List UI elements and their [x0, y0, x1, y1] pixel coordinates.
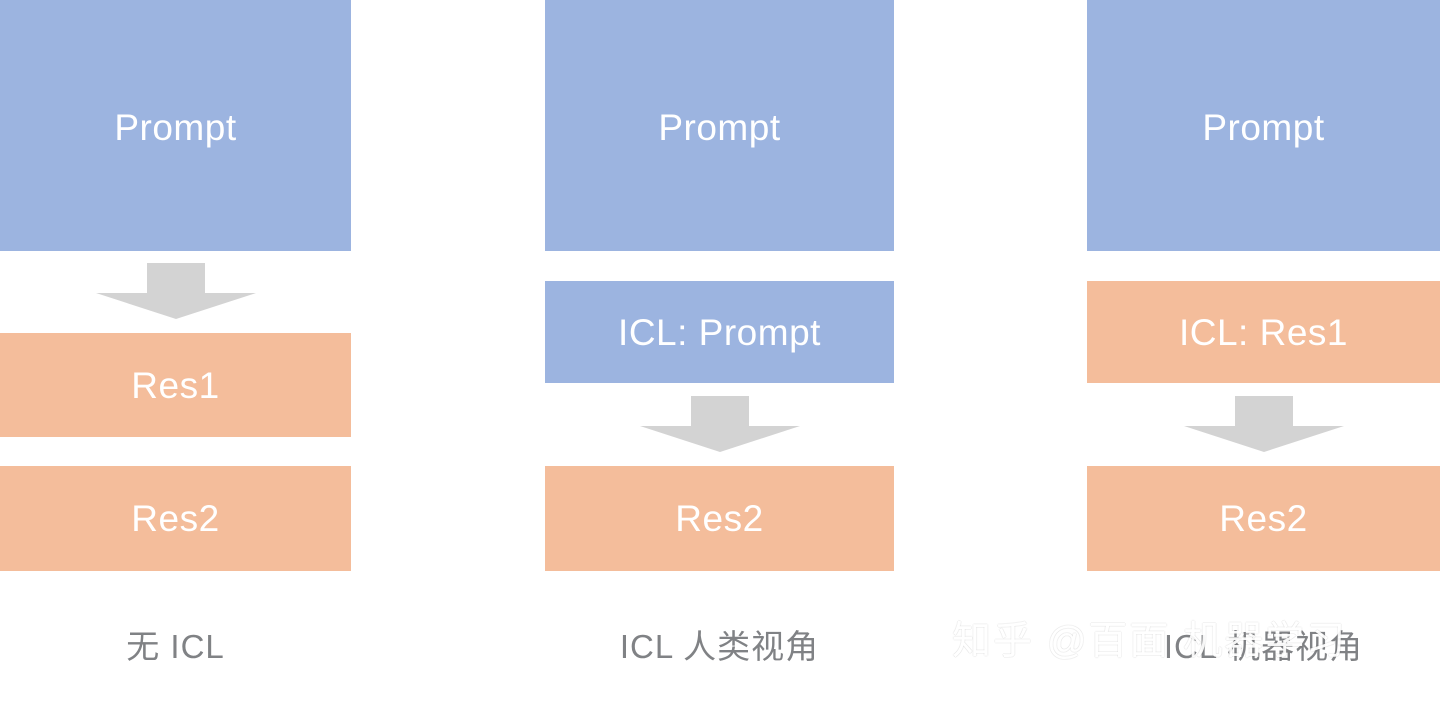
box-res1: Res1 [0, 333, 351, 437]
box-res2: Res2 [545, 466, 894, 571]
box-label: Res2 [1219, 500, 1307, 537]
column-caption: ICL 机器视角 [1087, 620, 1440, 668]
box-label: Res1 [131, 367, 219, 404]
box-label: Prompt [1202, 109, 1324, 146]
box-label: ICL: Prompt [618, 314, 821, 351]
down-arrow-icon [640, 396, 800, 452]
column-icl-machine-view: Prompt ICL: Res1 Res2 ICL 机器视角 [1087, 0, 1440, 707]
column-caption: ICL 人类视角 [545, 620, 894, 668]
box-prompt: Prompt [0, 0, 351, 251]
box-label: Prompt [114, 109, 236, 146]
box-label: Res2 [675, 500, 763, 537]
box-res2: Res2 [1087, 466, 1440, 571]
down-arrow-icon [96, 263, 256, 319]
box-prompt: Prompt [545, 0, 894, 251]
column-caption: 无 ICL [0, 620, 351, 668]
box-prompt: Prompt [1087, 0, 1440, 251]
diagram-canvas: Prompt Res1 Res2 无 ICL Prompt ICL: Promp… [0, 0, 1440, 707]
box-label: Res2 [131, 500, 219, 537]
box-res2: Res2 [0, 466, 351, 571]
box-icl-prompt: ICL: Prompt [545, 281, 894, 383]
down-arrow-icon [1184, 396, 1344, 452]
column-icl-human-view: Prompt ICL: Prompt Res2 ICL 人类视角 [545, 0, 894, 707]
box-label: Prompt [658, 109, 780, 146]
box-label: ICL: Res1 [1179, 314, 1348, 351]
box-icl-res1: ICL: Res1 [1087, 281, 1440, 383]
column-no-icl: Prompt Res1 Res2 无 ICL [0, 0, 351, 707]
